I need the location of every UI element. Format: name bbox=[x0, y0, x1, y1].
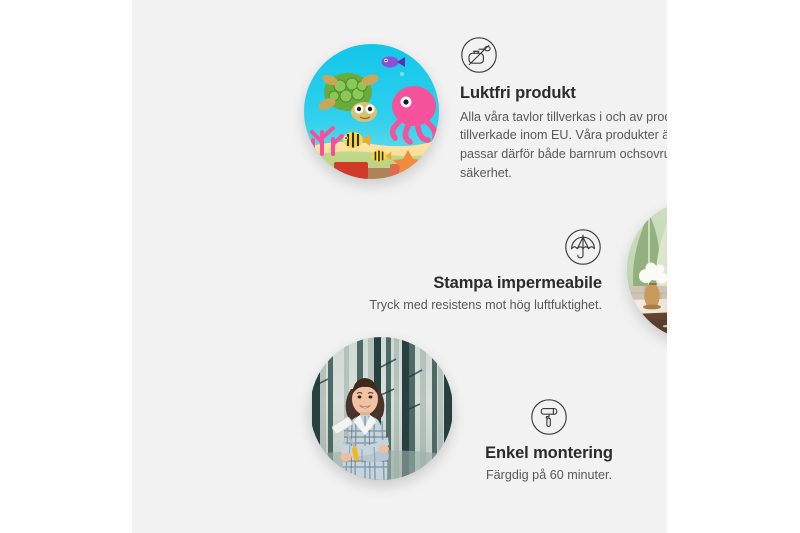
feature-block-easy-install: Enkel montering Färgdig på 60 minuter. bbox=[444, 398, 654, 484]
feature-block-waterproof: Stampa impermeabile Tryck med resistens … bbox=[330, 228, 602, 314]
content-panel: Luktfri produkt Alla våra tavlor tillver… bbox=[132, 0, 667, 533]
woman-painter-forest-illustration bbox=[310, 337, 453, 480]
promo-infographic-page: Luktfri produkt Alla våra tavlor tillver… bbox=[0, 0, 800, 533]
feature-title-waterproof: Stampa impermeabile bbox=[330, 273, 602, 294]
icon-row-waterproof bbox=[330, 228, 602, 266]
icon-row-easy-install bbox=[444, 398, 654, 436]
icon-row-odourless bbox=[460, 36, 667, 74]
feature-image-easy-install bbox=[310, 337, 453, 480]
feature-image-waterproof bbox=[627, 200, 667, 340]
feature-image-odourless bbox=[304, 44, 439, 179]
feature-body-easy-install: Färgdig på 60 minuter. bbox=[444, 467, 654, 485]
no-odour-spray-bottle-icon bbox=[460, 36, 498, 74]
feature-body-odourless: Alla våra tavlor tillverkas i och av pro… bbox=[460, 108, 667, 183]
feature-title-easy-install: Enkel montering bbox=[444, 443, 654, 464]
bathroom-leaf-wallpaper-illustration bbox=[627, 200, 667, 340]
feature-body-waterproof: Tryck med resistens mot hög luftfuktighe… bbox=[330, 297, 602, 315]
paint-roller-icon bbox=[530, 398, 568, 436]
umbrella-icon bbox=[564, 228, 602, 266]
underwater-scene-illustration bbox=[304, 44, 439, 179]
feature-block-odourless: Luktfri produkt Alla våra tavlor tillver… bbox=[460, 36, 667, 182]
feature-title-odourless: Luktfri produkt bbox=[460, 83, 667, 104]
